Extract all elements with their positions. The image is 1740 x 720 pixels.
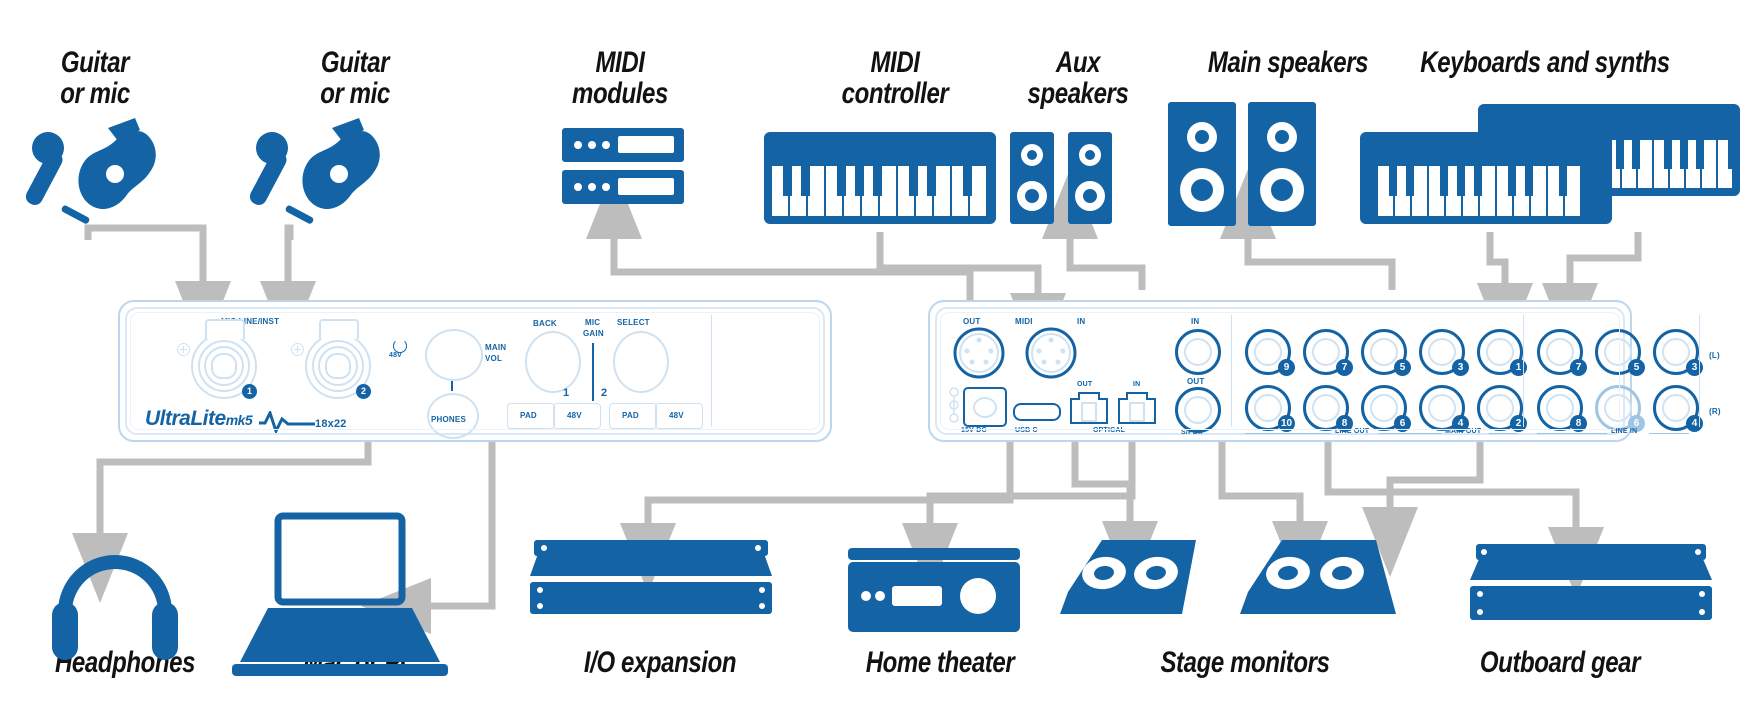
label-usb-c: USB C — [1015, 427, 1038, 434]
stage-monitor-icon-2 — [1240, 540, 1396, 614]
main-out-underline — [1489, 433, 1517, 434]
combo-jack-2-ring3 — [318, 346, 358, 386]
phantom-button-ch1[interactable] — [553, 403, 601, 429]
main-out-jack-3-num: 3 — [1452, 359, 1469, 376]
combo-jack-2-tab — [319, 319, 359, 339]
select-knob[interactable] — [613, 331, 669, 393]
jack-inner — [1546, 338, 1574, 366]
line-out-jack-8[interactable]: 8 — [1303, 385, 1349, 431]
line-in-jack-3-num: 3 — [1686, 359, 1703, 376]
label-optical: OPTICAL — [1093, 427, 1125, 434]
front-panel-face: MIC LINE/INST 1 2 48V — [133, 315, 817, 427]
spdif-out-jack[interactable] — [1175, 387, 1221, 433]
line-in-jack-4[interactable]: 4 — [1653, 385, 1699, 431]
main-volume-knob[interactable] — [425, 329, 483, 381]
jack-inner — [1604, 394, 1632, 422]
line-in-jack-5[interactable]: 5 — [1595, 329, 1641, 375]
main-out-jack-2-num: 2 — [1510, 415, 1527, 432]
line-in-jack-4-num: 4 — [1686, 415, 1703, 432]
line-out-jack-5[interactable]: 5 — [1361, 329, 1407, 375]
jack-inner — [1254, 338, 1282, 366]
jack-inner — [1370, 394, 1398, 422]
jack-inner — [1486, 338, 1514, 366]
front-panel-divider — [711, 315, 712, 427]
io-expansion-icon — [530, 540, 772, 614]
jack-inner — [1604, 338, 1632, 366]
combo-jack-2-badge: 2 — [356, 384, 371, 399]
line-out-jack-8-num: 8 — [1336, 415, 1353, 432]
jack-inner — [1428, 338, 1456, 366]
brand-logo: UltraLitemk5 — [145, 407, 252, 431]
label-midi-out: OUT — [963, 317, 981, 326]
jack-inner — [1486, 394, 1514, 422]
combo-jack-2[interactable]: 2 — [305, 333, 371, 399]
rear-panel-face: OUT MIDI IN — [943, 315, 1617, 427]
line-out-jack-9[interactable]: 9 — [1245, 329, 1291, 375]
label-main-vol-2: VOL — [485, 354, 502, 363]
line-in-jack-5-num: 5 — [1628, 359, 1645, 376]
jack-inner — [1546, 394, 1574, 422]
label-line-out: LINE OUT — [1335, 428, 1369, 435]
power-polarity-icon — [947, 387, 961, 423]
rear-divider-3 — [1699, 315, 1700, 427]
jack-inner — [1662, 338, 1690, 366]
label-48v-ch1: 48V — [567, 411, 582, 420]
label-15v-dc: 15V DC — [961, 427, 987, 434]
spdif-in-jack[interactable] — [1175, 329, 1221, 375]
brand-name-mk5: mk5 — [226, 412, 253, 428]
usb-c-port[interactable] — [1013, 403, 1061, 421]
label-left-channel: (L) — [1709, 351, 1720, 360]
midi-out-port[interactable] — [953, 327, 1005, 379]
rear-panel-chassis: OUT MIDI IN — [928, 300, 1632, 442]
front-panel-chassis: MIC LINE/INST 1 2 48V — [118, 300, 832, 442]
optical-in-port[interactable] — [1117, 391, 1157, 425]
main-out-jack-1-num: 1 — [1510, 359, 1527, 376]
combo-jack-1-latch-icon — [177, 343, 190, 356]
line-in-jack-8-num: 8 — [1570, 415, 1587, 432]
line-out-underline-2 — [1379, 433, 1441, 434]
diagram-canvas: Guitar or mic Guitar or mic MIDI modules… — [0, 0, 1740, 720]
label-mic-gain-2: GAIN — [583, 329, 604, 338]
combo-jack-1-tab — [205, 319, 245, 339]
jack-inner — [1428, 394, 1456, 422]
rear-divider-1 — [1231, 315, 1232, 427]
label-spdif-in: IN — [1191, 317, 1199, 326]
line-in-jack-7-num: 7 — [1570, 359, 1587, 376]
label-spdif: S/PDIF — [1181, 429, 1205, 436]
line-out-jack-9-num: 9 — [1278, 359, 1295, 376]
label-midi-in: IN — [1077, 317, 1085, 326]
jack-inner — [1662, 394, 1690, 422]
line-out-jack-7-num: 7 — [1336, 359, 1353, 376]
line-out-jack-5-num: 5 — [1394, 359, 1411, 376]
outboard-gear-icon — [1470, 544, 1712, 620]
line-out-jack-7[interactable]: 7 — [1303, 329, 1349, 375]
line-in-jack-3[interactable]: 3 — [1653, 329, 1699, 375]
headphones-icon — [52, 555, 178, 660]
label-right-channel: (R) — [1709, 407, 1721, 416]
power-connector-pin — [973, 397, 997, 418]
main-out-jack-1[interactable]: 1 — [1477, 329, 1523, 375]
line-out-jack-6-num: 6 — [1394, 415, 1411, 432]
label-midi: MIDI — [1015, 317, 1033, 326]
combo-jack-1-ring2 — [198, 340, 250, 392]
label-mic-line-inst: MIC LINE/INST — [221, 317, 279, 326]
line-out-jack-10[interactable]: 10 — [1245, 385, 1291, 431]
optical-out-port[interactable] — [1069, 391, 1109, 425]
main-out-jack-2[interactable]: 2 — [1477, 385, 1523, 431]
brand-waveform-icon — [257, 411, 317, 433]
main-out-jack-4[interactable]: 4 — [1419, 385, 1465, 431]
label-gain-ch1: 1 — [563, 387, 569, 399]
brand-name-ultra: UltraLite — [145, 407, 226, 430]
laptop-icon — [232, 516, 448, 676]
stage-monitor-icon-1 — [1060, 540, 1196, 614]
label-back: BACK — [533, 319, 557, 328]
jack-inner — [1312, 338, 1340, 366]
phones-jack[interactable] — [427, 393, 479, 439]
main-out-jack-4-num: 4 — [1452, 415, 1469, 432]
line-out-underline — [1245, 433, 1331, 434]
rear-divider-2 — [1523, 315, 1524, 427]
combo-jack-2-contact — [325, 353, 351, 379]
jack-inner — [1370, 338, 1398, 366]
label-48v-ch2: 48V — [669, 411, 684, 420]
label-io-count: 18x22 — [315, 418, 347, 430]
spdif-in-inner — [1184, 338, 1212, 366]
spdif-out-inner — [1184, 396, 1212, 424]
pad-button-ch2[interactable] — [609, 403, 657, 429]
line-out-jack-6[interactable]: 6 — [1361, 385, 1407, 431]
home-theater-icon — [848, 548, 1020, 632]
line-in-underline — [1537, 433, 1607, 434]
line-in-underline-2 — [1649, 433, 1689, 434]
main-vol-pointer — [451, 381, 453, 391]
combo-jack-1-contact — [211, 353, 237, 379]
pad-button-ch1[interactable] — [507, 403, 555, 429]
combo-jack-1-badge: 1 — [242, 384, 257, 399]
line-in-jack-6[interactable]: 6 — [1595, 385, 1641, 431]
combo-jack-1[interactable]: 1 — [191, 333, 257, 399]
combo-jack-1-ring3 — [204, 346, 244, 386]
combo-jack-2-latch-icon — [291, 343, 304, 356]
label-pad-ch1: PAD — [520, 411, 537, 420]
label-select: SELECT — [617, 318, 650, 327]
label-optical-in: IN — [1133, 381, 1140, 388]
label-optical-out: OUT — [1077, 381, 1092, 388]
label-power-48v: 48V — [389, 352, 402, 359]
label-spdif-out: OUT — [1187, 377, 1205, 386]
main-out-jack-3[interactable]: 3 — [1419, 329, 1465, 375]
line-out-jack-10-num: 10 — [1278, 415, 1295, 432]
label-pad-ch2: PAD — [622, 411, 639, 420]
label-gain-ch2: 2 — [601, 387, 607, 399]
power-icon — [393, 339, 407, 353]
line-in-jack-8[interactable]: 8 — [1537, 385, 1583, 431]
label-mic-gain-1: MIC — [585, 318, 600, 327]
label-main-vol-1: MAIN — [485, 343, 506, 352]
back-knob[interactable] — [525, 331, 581, 393]
midi-in-port[interactable] — [1025, 327, 1077, 379]
phantom-button-ch2[interactable] — [655, 403, 703, 429]
jack-inner — [1312, 394, 1340, 422]
mic-gain-divider — [592, 343, 594, 401]
jack-inner — [1254, 394, 1282, 422]
label-line-in: LINE IN — [1611, 428, 1637, 435]
line-in-jack-7[interactable]: 7 — [1537, 329, 1583, 375]
label-main-out: MAIN OUT — [1445, 428, 1481, 435]
power-connector[interactable] — [963, 387, 1007, 427]
label-phones: PHONES — [431, 415, 466, 424]
combo-jack-2-ring2 — [312, 340, 364, 392]
